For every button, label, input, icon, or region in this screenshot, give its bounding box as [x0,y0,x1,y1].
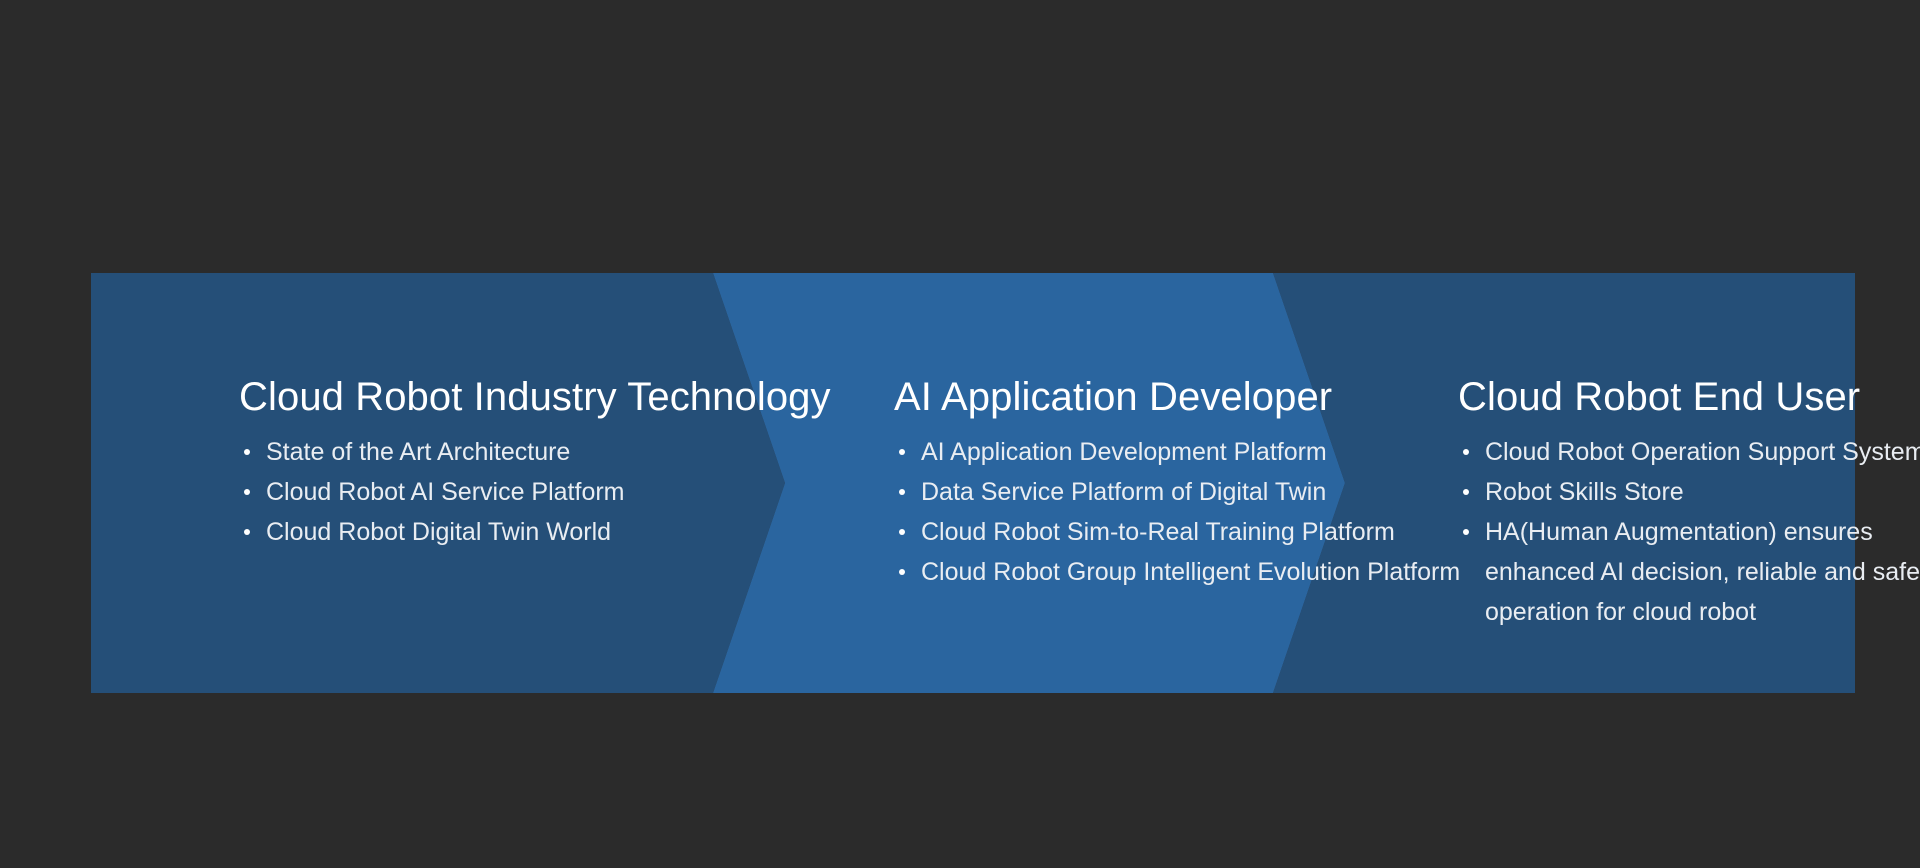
bullet-dot-icon [899,489,905,495]
bullet-dot-icon [899,449,905,455]
list-item-label: State of the Art Architecture [266,438,570,466]
bullet-dot-icon [244,489,250,495]
list-item: AI Application Development Platform [897,432,1460,472]
list-item: Cloud Robot Digital Twin World [242,512,831,552]
segment-3-bullet-list: Cloud Robot Operation Support System Rob… [1461,432,1920,632]
bullet-dot-icon [899,529,905,535]
list-item-label: Cloud Robot Group Intelligent Evolution … [921,558,1460,586]
list-item-label: Robot Skills Store [1485,478,1684,506]
bullet-dot-icon [244,449,250,455]
list-item-label: AI Application Development Platform [921,438,1327,466]
list-item: HA(Human Augmentation) ensures enhanced … [1461,512,1920,632]
list-item: Cloud Robot AI Service Platform [242,472,831,512]
bullet-dot-icon [899,569,905,575]
bullet-dot-icon [244,529,250,535]
list-item: Data Service Platform of Digital Twin [897,472,1460,512]
list-item-label: Cloud Robot Digital Twin World [266,518,611,546]
list-item: State of the Art Architecture [242,432,831,472]
segment-2-content: AI Application Developer AI Application … [894,273,1460,592]
list-item: Cloud Robot Group Intelligent Evolution … [897,552,1460,592]
list-item-label: Cloud Robot Sim-to-Real Training Platfor… [921,518,1395,546]
segment-3-heading: Cloud Robot End User [1458,376,1920,418]
list-item: Robot Skills Store [1461,472,1920,512]
bullet-dot-icon [1463,449,1469,455]
segment-2-bullet-list: AI Application Development Platform Data… [897,432,1460,592]
list-item-label: HA(Human Augmentation) ensures enhanced … [1485,518,1920,626]
bullet-dot-icon [1463,489,1469,495]
slide-canvas: Cloud Robot Industry Technology State of… [0,0,1920,868]
segment-3-content: Cloud Robot End User Cloud Robot Operati… [1458,273,1920,632]
list-item: Cloud Robot Operation Support System [1461,432,1920,472]
segment-1-heading: Cloud Robot Industry Technology [239,376,831,418]
list-item-label: Data Service Platform of Digital Twin [921,478,1326,506]
chevron-band: Cloud Robot Industry Technology State of… [91,273,1855,693]
bullet-dot-icon [1463,529,1469,535]
list-item-label: Cloud Robot AI Service Platform [266,478,625,506]
list-item-label: Cloud Robot Operation Support System [1485,438,1920,466]
list-item: Cloud Robot Sim-to-Real Training Platfor… [897,512,1460,552]
segment-1-bullet-list: State of the Art Architecture Cloud Robo… [242,432,831,552]
segment-2-heading: AI Application Developer [894,376,1460,418]
segment-1-content: Cloud Robot Industry Technology State of… [239,273,831,552]
